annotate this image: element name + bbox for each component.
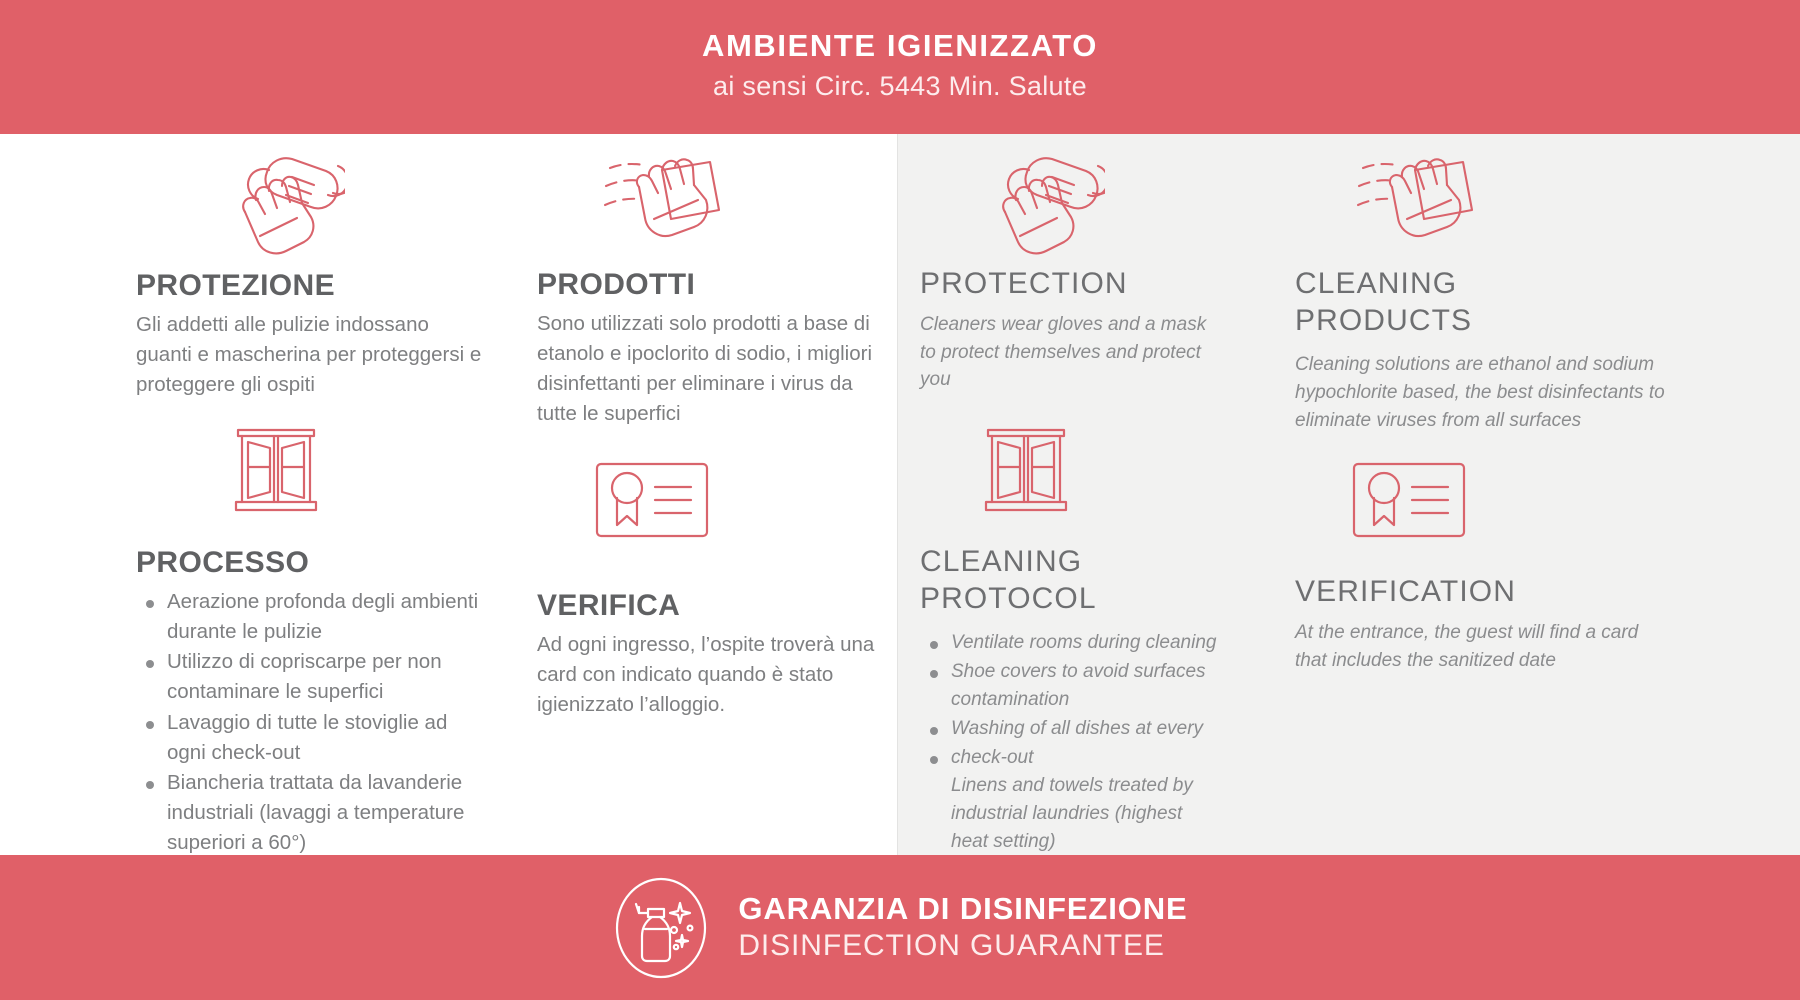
- verifica-heading: VERIFICA: [537, 589, 877, 622]
- panel-divider: [897, 134, 898, 855]
- footer-banner: GARANZIA DI DISINFEZIONE DISINFECTION GU…: [0, 855, 1800, 1000]
- verifica-body: Ad ogni ingresso, l’ospite troverà una c…: [537, 630, 877, 720]
- processo-block: PROCESSO Aerazione profonda degli ambien…: [136, 546, 488, 858]
- cleaning-products-icon-wrap: [1355, 152, 1480, 252]
- prodotti-heading: PRODOTTI: [537, 268, 877, 301]
- page-title: AMBIENTE IGIENIZZATO: [702, 30, 1098, 63]
- protezione-heading: PROTEZIONE: [136, 269, 486, 302]
- footer-title-it: GARANZIA DI DISINFEZIONE: [738, 892, 1187, 927]
- processo-heading: PROCESSO: [136, 546, 488, 579]
- open-window-icon: [978, 422, 1074, 518]
- protocol-bullet-list: Ventilate rooms during cleaning Shoe cov…: [920, 629, 1220, 855]
- verification-heading: VERIFICATION: [1295, 574, 1665, 611]
- list-item: Ventilate rooms during cleaning: [920, 629, 1220, 657]
- poster: AMBIENTE IGIENIZZATO ai sensi Circ. 5443…: [0, 0, 1800, 1000]
- hand-wiping-cloth-icon: [1355, 152, 1480, 252]
- verifica-block: VERIFICA Ad ogni ingresso, l’ospite trov…: [537, 589, 877, 720]
- page-subtitle: ai sensi Circ. 5443 Min. Salute: [713, 72, 1087, 100]
- list-item: Lavaggio di tutte le stoviglie ad ogni c…: [136, 708, 488, 767]
- verifica-icon-wrap: [593, 459, 711, 541]
- list-item: Biancheria trattata da lavanderie indust…: [136, 768, 488, 857]
- gloves-mask-icon: [220, 150, 345, 255]
- footer-title-en: DISINFECTION GUARANTEE: [738, 929, 1187, 964]
- protection-heading: PROTECTION: [920, 266, 1220, 303]
- verification-icon-wrap: [1350, 459, 1468, 541]
- cleaning-products-block: CLEANING PRODUCTS Cleaning solutions are…: [1295, 266, 1665, 435]
- content-area: PROTEZIONE Gli addetti alle pulizie indo…: [0, 134, 1800, 855]
- protezione-block: PROTEZIONE Gli addetti alle pulizie indo…: [136, 269, 486, 400]
- protocol-heading-line1: CLEANING: [920, 545, 1082, 578]
- protocol-icon-wrap: [978, 422, 1074, 518]
- list-item: Washing of all dishes at every: [920, 715, 1220, 743]
- list-item: Aerazione profonda degli ambienti durant…: [136, 587, 488, 646]
- open-window-icon: [228, 422, 324, 518]
- footer-text-group: GARANZIA DI DISINFEZIONE DISINFECTION GU…: [738, 892, 1187, 963]
- processo-bullet-list: Aerazione profonda degli ambienti durant…: [136, 587, 488, 857]
- protocol-heading: CLEANING PROTOCOL: [920, 544, 1220, 617]
- protocol-heading-line2: PROTOCOL: [920, 582, 1097, 615]
- verification-block: VERIFICATION At the entrance, the guest …: [1295, 574, 1665, 674]
- protection-block: PROTECTION Cleaners wear gloves and a ma…: [920, 266, 1220, 394]
- cleaning-products-body: Cleaning solutions are ethanol and sodiu…: [1295, 351, 1665, 435]
- spray-bottle-sparkle-icon: [612, 873, 710, 983]
- prodotti-body: Sono utilizzati solo prodotti a base di …: [537, 309, 877, 430]
- cleaning-products-heading-line1: CLEANING: [1295, 267, 1457, 300]
- processo-icon-wrap: [228, 422, 324, 518]
- verification-body: At the entrance, the guest will find a c…: [1295, 619, 1665, 675]
- cleaning-products-heading-line2: PRODUCTS: [1295, 304, 1472, 337]
- protection-body: Cleaners wear gloves and a mask to prote…: [920, 311, 1220, 395]
- certificate-card-icon: [593, 459, 711, 541]
- protection-icon-wrap: [980, 150, 1105, 255]
- certificate-card-icon: [1350, 459, 1468, 541]
- protezione-icon-wrap: [220, 150, 345, 255]
- protocol-block: CLEANING PROTOCOL Ventilate rooms during…: [920, 544, 1220, 857]
- cleaning-products-heading: CLEANING PRODUCTS: [1295, 266, 1665, 339]
- prodotti-icon-wrap: [602, 152, 727, 252]
- gloves-mask-icon: [980, 150, 1105, 255]
- list-item: check-out Linens and towels treated by i…: [920, 744, 1220, 856]
- hand-wiping-cloth-icon: [602, 152, 727, 252]
- list-item: Shoe covers to avoid surfaces contaminat…: [920, 658, 1220, 714]
- list-item: Utilizzo di copriscarpe per non contamin…: [136, 647, 488, 706]
- prodotti-block: PRODOTTI Sono utilizzati solo prodotti a…: [537, 268, 877, 430]
- protezione-body: Gli addetti alle pulizie indossano guant…: [136, 310, 486, 400]
- header-banner: AMBIENTE IGIENIZZATO ai sensi Circ. 5443…: [0, 0, 1800, 134]
